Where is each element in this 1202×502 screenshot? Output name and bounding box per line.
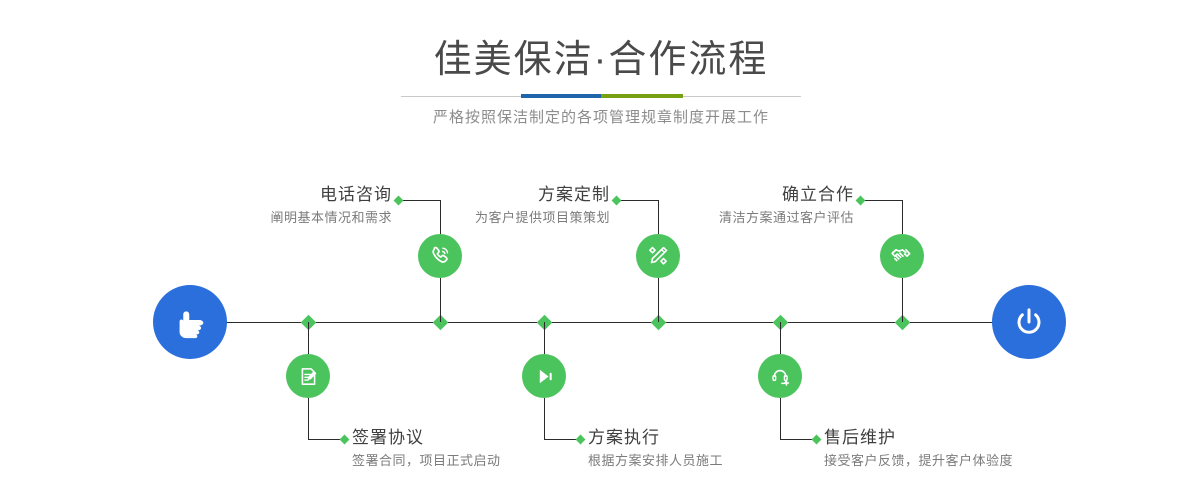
step-node-3 bbox=[636, 234, 680, 278]
step-title-6: 售后维护 bbox=[824, 427, 1124, 449]
handshake-icon bbox=[889, 243, 915, 269]
page-title: 佳美保洁·合作流程 bbox=[0, 36, 1202, 84]
connector-drop-4 bbox=[544, 398, 545, 439]
step-node-2 bbox=[286, 354, 330, 398]
stem-5 bbox=[902, 278, 903, 322]
flow-start-node bbox=[153, 285, 227, 359]
stem-3 bbox=[658, 278, 659, 322]
step-node-6 bbox=[758, 354, 802, 398]
flow-end-node bbox=[992, 285, 1066, 359]
divider-segment-green bbox=[601, 94, 683, 98]
step-desc-5: 清洁方案通过客户评估 bbox=[594, 208, 854, 228]
document-pen-icon bbox=[296, 364, 321, 389]
step-node-1 bbox=[418, 234, 462, 278]
step-desc-6: 接受客户反馈，提升客户体验度 bbox=[824, 451, 1124, 471]
connector-tip-2 bbox=[340, 435, 350, 445]
stem-2 bbox=[308, 322, 309, 354]
step-label-3: 方案定制 为客户提供项目策策划 bbox=[350, 184, 610, 228]
stem-1 bbox=[440, 278, 441, 322]
divider-segment-blue bbox=[521, 94, 601, 98]
pointing-hand-icon bbox=[170, 302, 210, 342]
step-node-4 bbox=[522, 354, 566, 398]
power-button-icon bbox=[1009, 302, 1049, 342]
step-title-3: 方案定制 bbox=[350, 184, 610, 206]
step-label-6: 售后维护 接受客户反馈，提升客户体验度 bbox=[824, 427, 1124, 471]
step-node-5 bbox=[880, 234, 924, 278]
step-label-5: 确立合作 清洁方案通过客户评估 bbox=[594, 184, 854, 228]
page-subtitle: 严格按照保洁制定的各项管理规章制度开展工作 bbox=[0, 106, 1202, 130]
play-execute-icon bbox=[532, 364, 557, 389]
customer-service-add-icon bbox=[768, 364, 793, 389]
title-divider bbox=[401, 94, 801, 98]
phone-call-icon bbox=[427, 243, 453, 269]
pencil-design-icon bbox=[645, 243, 671, 269]
process-flow-diagram: 电话咨询 阐明基本情况和需求 签署协议 签署合同，项目正式启动 bbox=[0, 150, 1202, 502]
connector-tip-5 bbox=[856, 196, 866, 206]
stem-6 bbox=[780, 322, 781, 354]
connector-drop-5 bbox=[902, 200, 903, 234]
stem-4 bbox=[544, 322, 545, 354]
step-desc-3: 为客户提供项目策策划 bbox=[350, 208, 610, 228]
page-header: 佳美保洁·合作流程 严格按照保洁制定的各项管理规章制度开展工作 bbox=[0, 0, 1202, 150]
connector-drop-2 bbox=[308, 398, 309, 439]
step-title-5: 确立合作 bbox=[594, 184, 854, 206]
connector-drop-6 bbox=[780, 398, 781, 439]
connector-run-5 bbox=[860, 200, 902, 201]
